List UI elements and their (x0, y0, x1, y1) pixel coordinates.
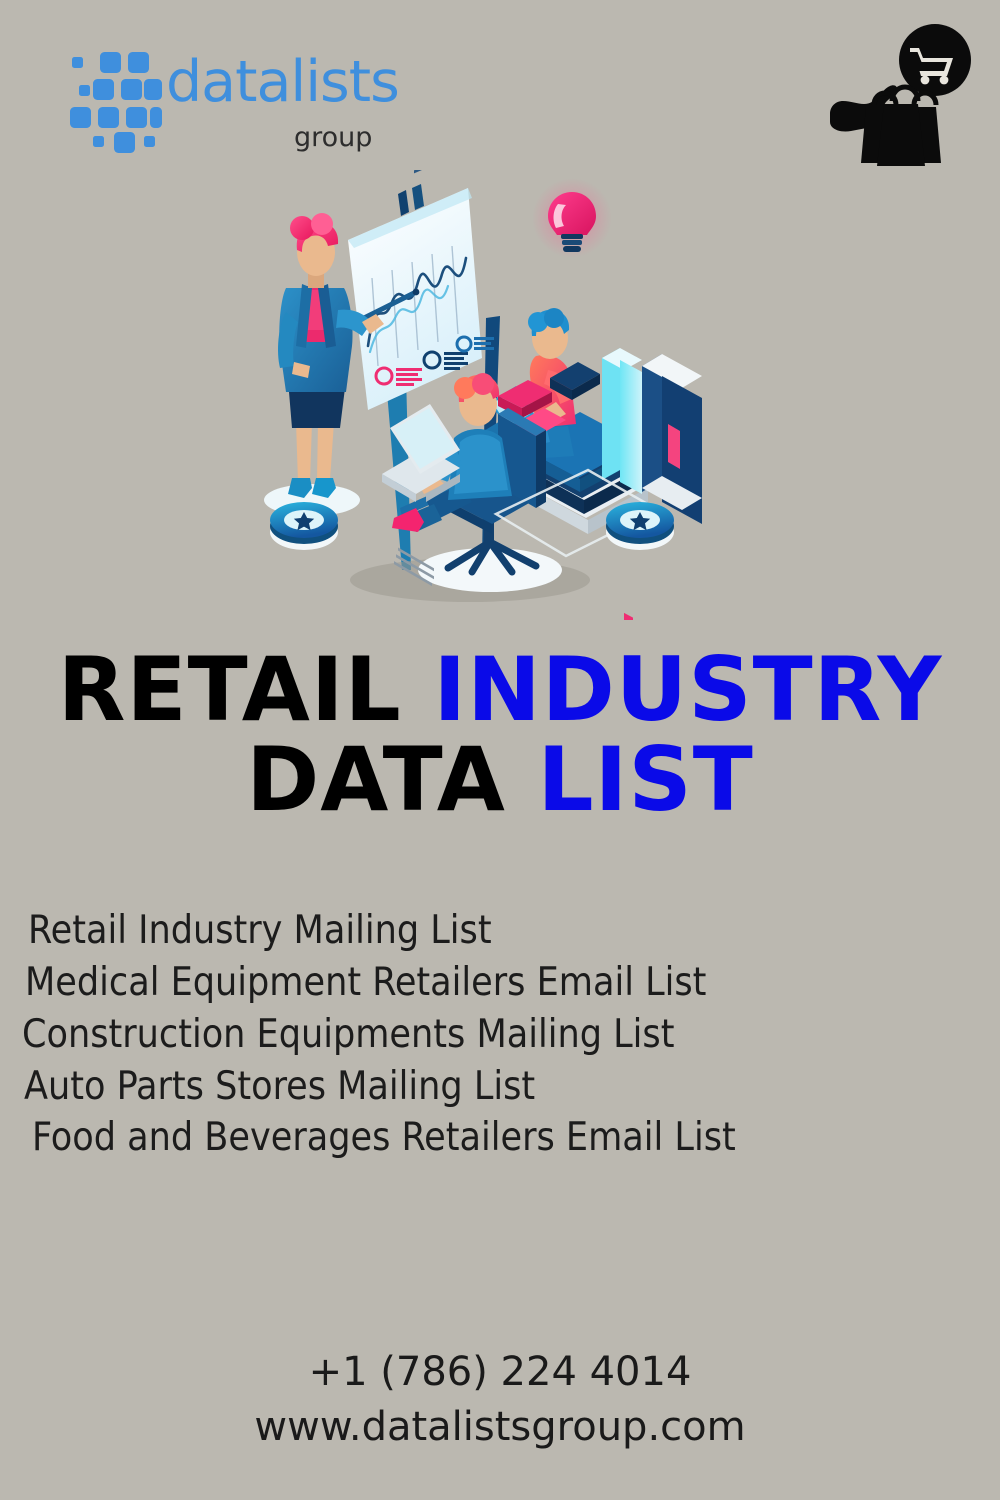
business-analytics-isometric-illustration (250, 170, 770, 620)
list-item: Food and Beverages Retailers Email List (0, 1112, 1000, 1164)
contact-block: +1 (786) 224 4014 www.datalistsgroup.com (0, 1345, 1000, 1455)
star-coin-right (606, 502, 674, 550)
title-word-data: DATA (246, 728, 506, 831)
list-item: Auto Parts Stores Mailing List (0, 1061, 1000, 1113)
page-title: RETAIL INDUSTRY DATA LIST (0, 645, 1000, 825)
contact-phone[interactable]: +1 (786) 224 4014 (0, 1345, 1000, 1400)
service-list: Retail Industry Mailing List Medical Equ… (0, 905, 1000, 1164)
dot-matrix-icon (62, 50, 162, 154)
title-line-1: RETAIL INDUSTRY (0, 645, 1000, 735)
title-word-retail: RETAIL (58, 638, 402, 741)
title-line-2: DATA LIST (0, 735, 1000, 825)
star-coin-left (270, 502, 338, 550)
shopping-bags-cart-icon (822, 22, 982, 172)
poster-root: datalists group (0, 0, 1000, 1500)
brand-wordmark: datalists (166, 54, 399, 111)
list-item: Medical Equipment Retailers Email List (0, 957, 1000, 1009)
title-word-list: LIST (538, 728, 754, 831)
brand-logo[interactable]: datalists group (62, 48, 422, 160)
title-word-industry: INDUSTRY (433, 638, 942, 741)
list-item: Retail Industry Mailing List (0, 905, 1000, 957)
brand-subtext: group (294, 124, 372, 151)
list-item: Construction Equipments Mailing List (0, 1009, 1000, 1061)
contact-website[interactable]: www.datalistsgroup.com (0, 1400, 1000, 1455)
